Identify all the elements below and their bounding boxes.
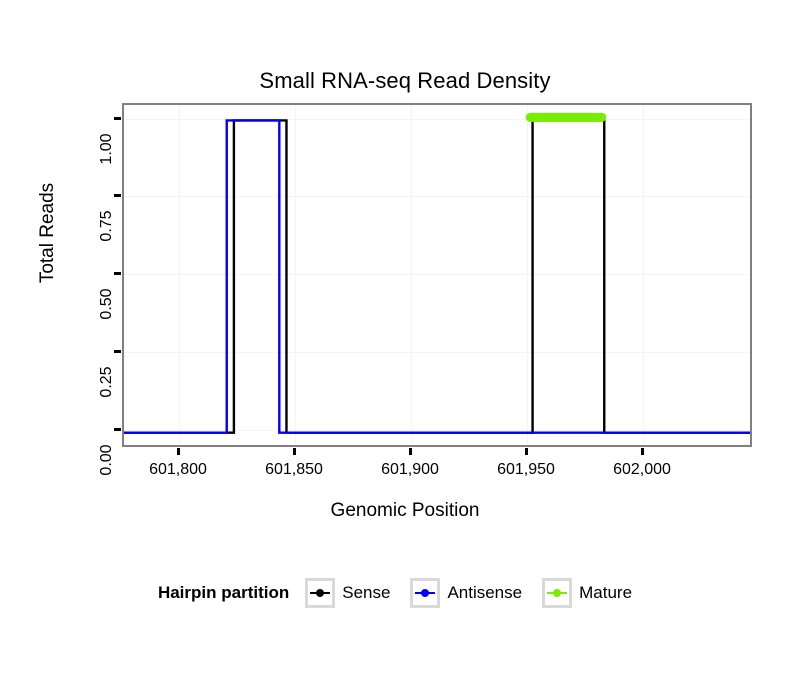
legend-key-antisense (410, 578, 440, 608)
legend-label-sense: Sense (342, 583, 390, 603)
x-tick-mark-4 (641, 448, 644, 455)
x-tick-label-1: 601,850 (249, 461, 339, 479)
y-tick-label-0: 0.00 (98, 430, 116, 490)
y-axis-title: Total Reads (37, 133, 59, 333)
legend-item-sense[interactable]: Sense (305, 578, 404, 608)
plot-area (124, 105, 750, 445)
legend-label-antisense: Antisense (447, 583, 522, 603)
line-point-icon (414, 582, 436, 604)
legend-item-antisense[interactable]: Antisense (410, 578, 536, 608)
line-point-icon (309, 582, 331, 604)
series-line-sense (124, 120, 750, 432)
x-tick-label-4: 602,000 (597, 461, 687, 479)
legend-key-mature (542, 578, 572, 608)
x-axis-title: Genomic Position (0, 500, 810, 522)
x-tick-mark-2 (409, 448, 412, 455)
x-tick-mark-1 (293, 448, 296, 455)
legend-label-mature: Mature (579, 583, 632, 603)
chart-figure: Small RNA-seq Read Density Total Reads G… (0, 0, 810, 690)
y-tick-label-2: 0.50 (98, 274, 116, 334)
line-point-icon (546, 582, 568, 604)
legend-item-mature[interactable]: Mature (542, 578, 646, 608)
x-tick-label-2: 601,900 (365, 461, 455, 479)
y-tick-label-3: 0.75 (98, 196, 116, 256)
x-tick-mark-3 (525, 448, 528, 455)
legend: Hairpin partition Sense Antisense (0, 578, 810, 608)
x-tick-mark-0 (177, 448, 180, 455)
series-line-antisense (124, 120, 750, 432)
legend-title: Hairpin partition (158, 583, 289, 603)
chart-title: Small RNA-seq Read Density (0, 68, 810, 94)
legend-key-sense (305, 578, 335, 608)
x-tick-label-0: 601,800 (133, 461, 223, 479)
x-tick-label-3: 601,950 (481, 461, 571, 479)
y-tick-label-4: 1.00 (98, 119, 116, 179)
data-series-layer (124, 105, 750, 445)
y-tick-label-1: 0.25 (98, 352, 116, 412)
plot-panel (122, 103, 752, 447)
